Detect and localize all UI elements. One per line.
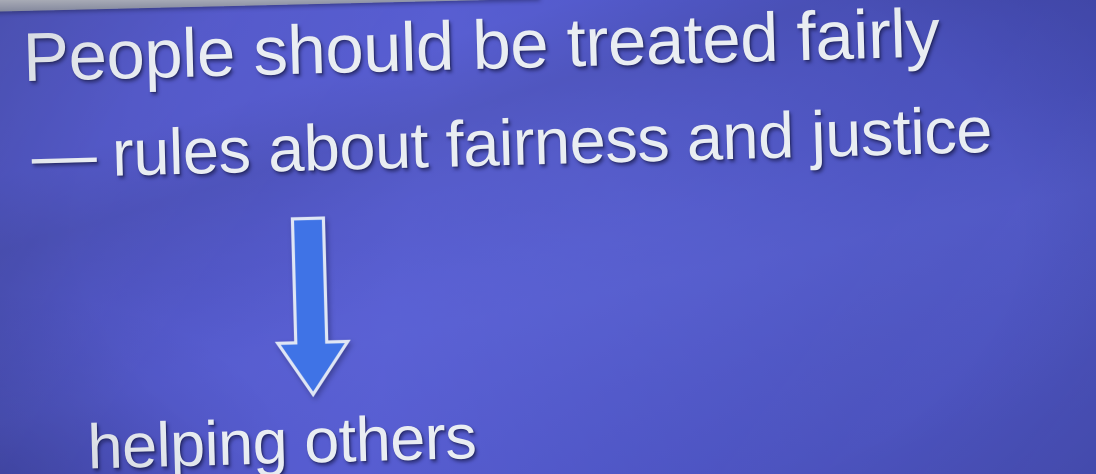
- presentation-slide-photo: People should be treated fairly —rules a…: [0, 0, 1096, 474]
- photo-vignette: [0, 0, 1096, 474]
